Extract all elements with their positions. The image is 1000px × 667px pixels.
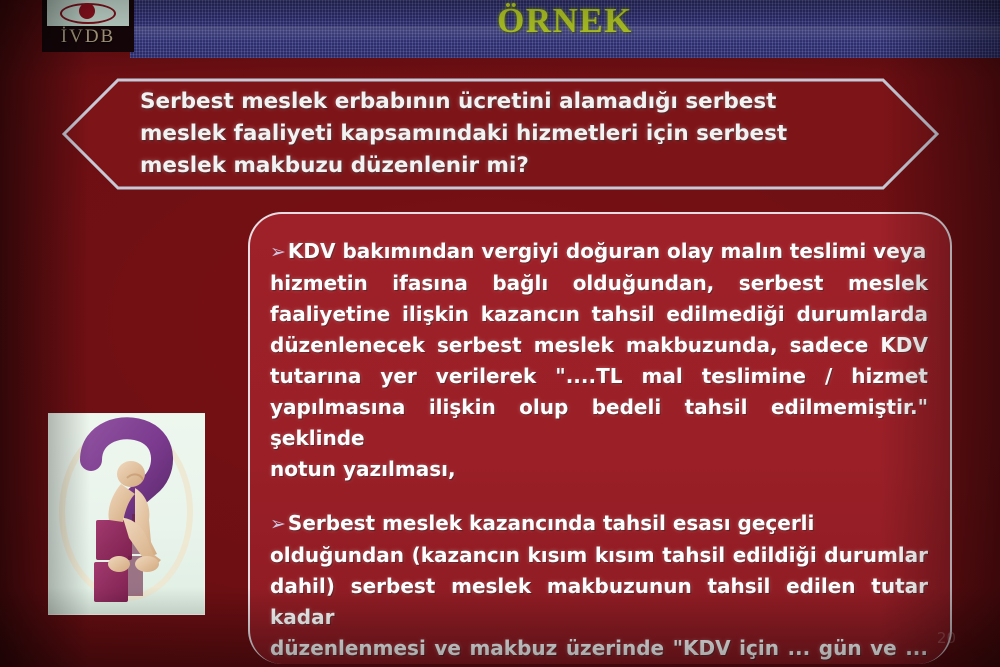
p1-line-7: notun yazılması, [270, 454, 928, 485]
question-line-1: Serbest meslek erbabının ücretini alamad… [140, 86, 891, 118]
page-title: ÖRNEK [130, 1, 1000, 41]
logo-block: İVDB [42, 0, 134, 52]
page-number: 20 [937, 629, 956, 647]
p2-line-1: Serbest meslek kazancında tahsil esası g… [288, 511, 814, 535]
p1-line-4: düzenlenecek serbest meslek makbuzunda, … [270, 330, 928, 361]
content-paragraph-2: ➢Serbest meslek kazancında tahsil esası … [270, 508, 928, 664]
thinker-illustration [48, 413, 205, 615]
p1-line-1: KDV bakımından vergiyi doğuran olay malı… [288, 239, 926, 263]
thinker-question-mark-graphic [49, 414, 204, 614]
content-panel: ➢KDV bakımından vergiyi doğuran olay mal… [248, 212, 952, 664]
bullet-arrow-icon: ➢ [270, 241, 286, 263]
p2-line-4: düzenlenmesi ve makbuz üzerinde "KDV içi… [270, 633, 928, 664]
content-inner: ➢KDV bakımından vergiyi doğuran olay mal… [250, 214, 950, 664]
content-paragraph-1: ➢KDV bakımından vergiyi doğuran olay mal… [270, 236, 928, 485]
bullet-arrow-icon-2: ➢ [270, 513, 286, 535]
p1-line-6: yapılmasına ilişkin olup bedeli tahsil e… [270, 392, 928, 454]
presentation-slide: ÖRNEK İVDB Serbest meslek erbabının ücre… [0, 0, 1000, 667]
question-banner: Serbest meslek erbabının ücretini alamad… [62, 78, 939, 190]
logo-ring-shape [60, 3, 116, 24]
question-line-3: meslek makbuzu düzenlenir mi? [140, 150, 891, 182]
ivdb-emblem-icon [47, 0, 129, 26]
p1-line-2: hizmetin ifasına bağlı olduğundan, serbe… [270, 268, 928, 299]
question-line-2: meslek faaliyeti kapsamındaki hizmetleri… [140, 118, 891, 150]
p2-line-2: olduğundan (kazancın kısım kısım tahsil … [270, 540, 928, 571]
p2-line-3: dahil) serbest meslek makbuzunun tahsil … [270, 571, 928, 633]
p1-line-3: faaliyetine ilişkin kazancın tahsil edil… [270, 299, 928, 330]
header-band: ÖRNEK [130, 0, 1000, 58]
p1-line-5: tutarına yer verilerek "....TL mal tesli… [270, 361, 928, 392]
logo-label: İVDB [42, 26, 134, 48]
question-text: Serbest meslek erbabının ücretini alamad… [140, 86, 891, 182]
